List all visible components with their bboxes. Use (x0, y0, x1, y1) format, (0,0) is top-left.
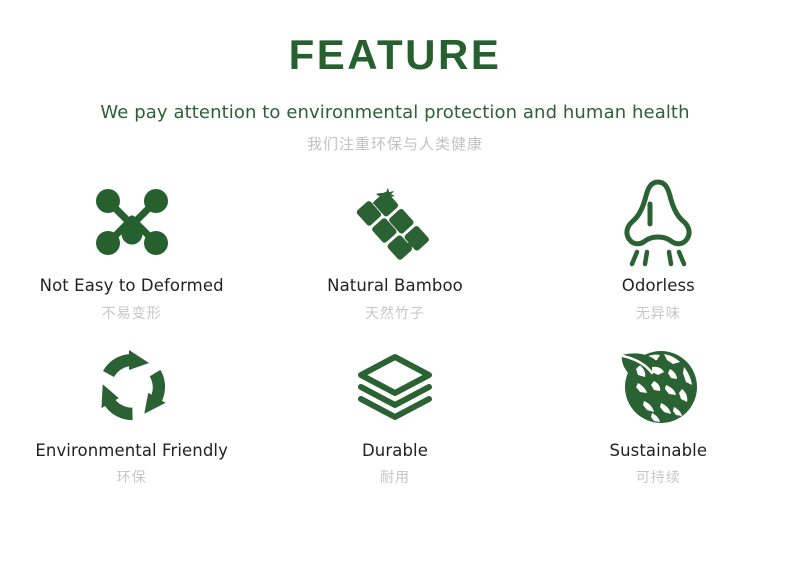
feature-label-cn: 无异味 (636, 306, 681, 323)
molecule-lattice-icon (91, 176, 173, 268)
feature-item-natural-bamboo: Natural Bamboo 天然竹子 (263, 176, 526, 323)
bamboo-stalks-icon (356, 176, 434, 268)
feature-label-en: Durable (362, 441, 428, 461)
feature-label-en: Natural Bamboo (327, 276, 463, 296)
feature-row-1: Not Easy to Deformed 不易变形 (0, 176, 790, 323)
stacked-layers-icon (353, 339, 437, 435)
feature-item-not-easy-to-deformed: Not Easy to Deformed 不易变形 (0, 176, 263, 323)
subtitle-english: We pay attention to environmental protec… (0, 76, 790, 123)
feature-item-odorless: Odorless 无异味 (527, 176, 790, 323)
globe-leaf-icon (616, 339, 700, 435)
page-title: FEATURE (0, 34, 790, 76)
feature-label-en: Odorless (622, 276, 695, 296)
feature-label-en: Environmental Friendly (35, 441, 228, 461)
feature-row-2: Environmental Friendly 环保 (0, 339, 790, 488)
feature-label-cn: 天然竹子 (365, 306, 425, 323)
feature-item-durable: Durable 耐用 (263, 339, 526, 488)
feature-label-cn: 可持续 (636, 470, 681, 487)
feature-item-environmental-friendly: Environmental Friendly 环保 (0, 339, 263, 488)
feature-label-cn: 不易变形 (102, 306, 162, 323)
nose-icon (618, 176, 698, 268)
feature-grid: Not Easy to Deformed 不易变形 (0, 176, 790, 487)
feature-section: FEATURE We pay attention to environmenta… (0, 0, 790, 576)
feature-label-cn: 耐用 (380, 470, 410, 487)
feature-label-en: Sustainable (610, 441, 708, 461)
feature-item-sustainable: Sustainable 可持续 (527, 339, 790, 488)
subtitle-chinese: 我们注重环保与人类健康 (0, 123, 790, 154)
section-header: FEATURE We pay attention to environmenta… (0, 0, 790, 154)
feature-label-en: Not Easy to Deformed (40, 276, 224, 296)
feature-label-cn: 环保 (117, 470, 147, 487)
recycle-arrows-icon (89, 339, 175, 435)
